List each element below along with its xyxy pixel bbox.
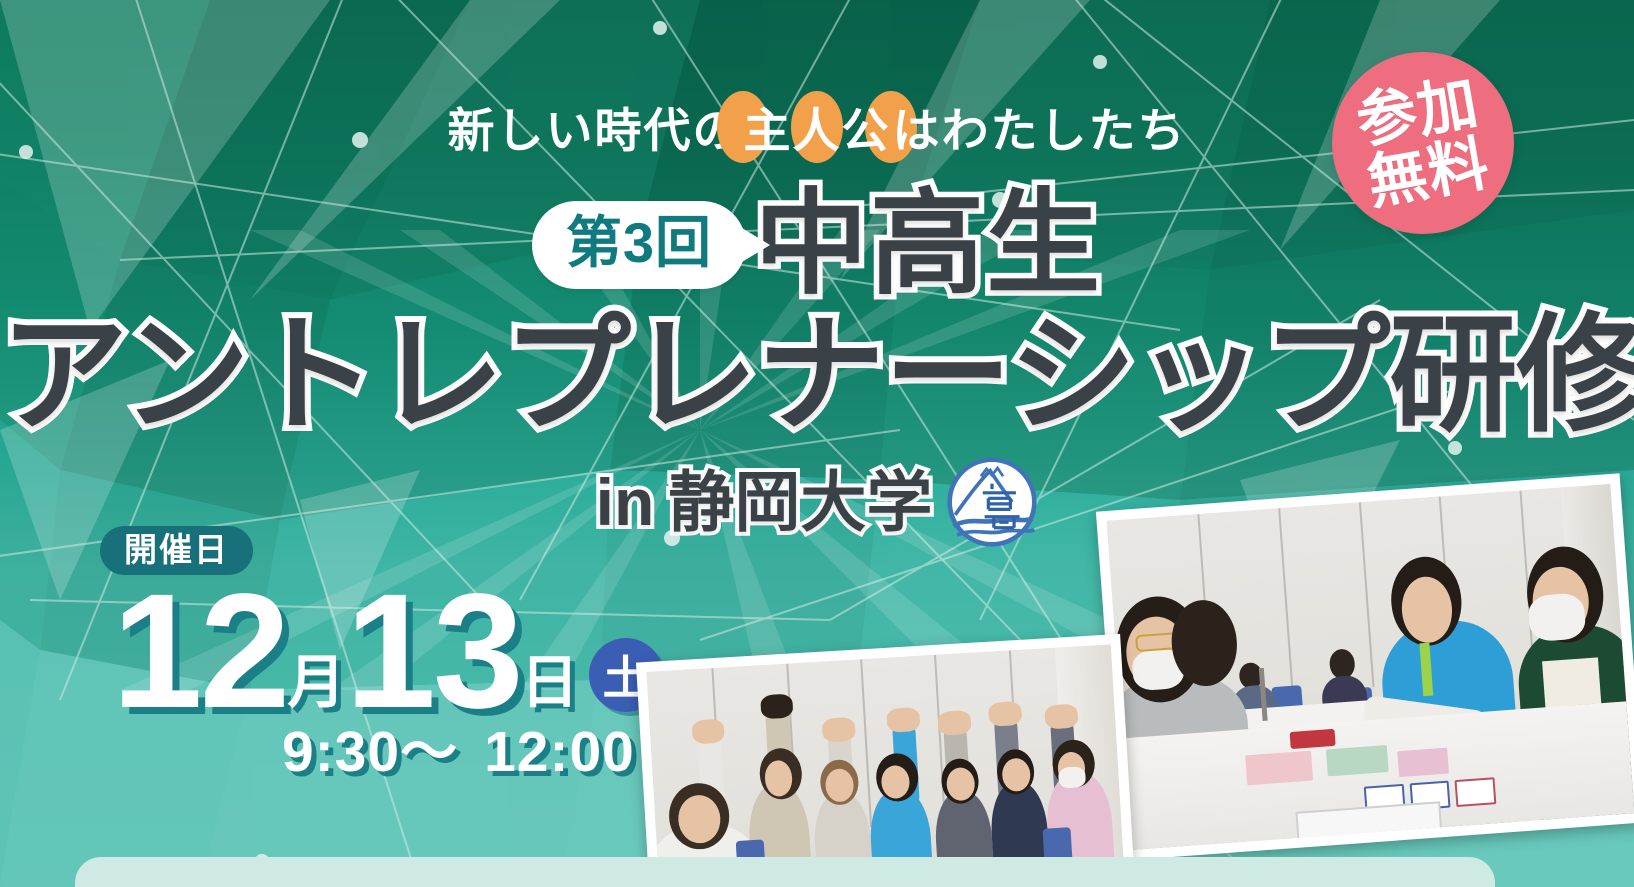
date-row: 12 月 13 日 土 <box>112 576 663 726</box>
workshop-table-photo <box>1096 473 1634 861</box>
title-audience: 中高生 <box>754 188 1102 302</box>
date-day-number: 13 <box>345 576 520 726</box>
edition-bubble: 第3回 <box>532 201 746 289</box>
bottom-content-panel <box>75 857 1495 887</box>
venue-name: 静岡大学 <box>668 469 932 535</box>
title-main: アントレプレナーシップ研修 <box>0 304 1634 447</box>
tagline-after: はわたしたち <box>893 104 1187 157</box>
time-start: 9:30～ <box>282 720 458 784</box>
event-time: 9:30～12:00 <box>282 706 635 788</box>
tagline-highlight-text: 主人公 <box>744 104 891 157</box>
date-month-number: 12 <box>112 576 287 726</box>
shizuoka-university-logo-icon <box>946 456 1038 548</box>
tagline-highlight: 主人公 <box>742 92 893 161</box>
venue-prefix: in <box>596 469 655 535</box>
title-line-2: アントレプレナーシップ研修 <box>0 312 1634 440</box>
group-cheer-photo <box>636 634 1139 887</box>
tagline: 新しい時代の主人公はわたしたち <box>0 92 1634 161</box>
time-end: 12:00 <box>484 720 635 784</box>
tagline-before: 新しい時代の <box>448 104 742 157</box>
title-line-1: 第3回 中高生 <box>0 188 1634 302</box>
event-poster: 参加 無料 新しい時代の主人公はわたしたち 第3回 中高生 アントレプレナーシッ… <box>0 0 1634 887</box>
